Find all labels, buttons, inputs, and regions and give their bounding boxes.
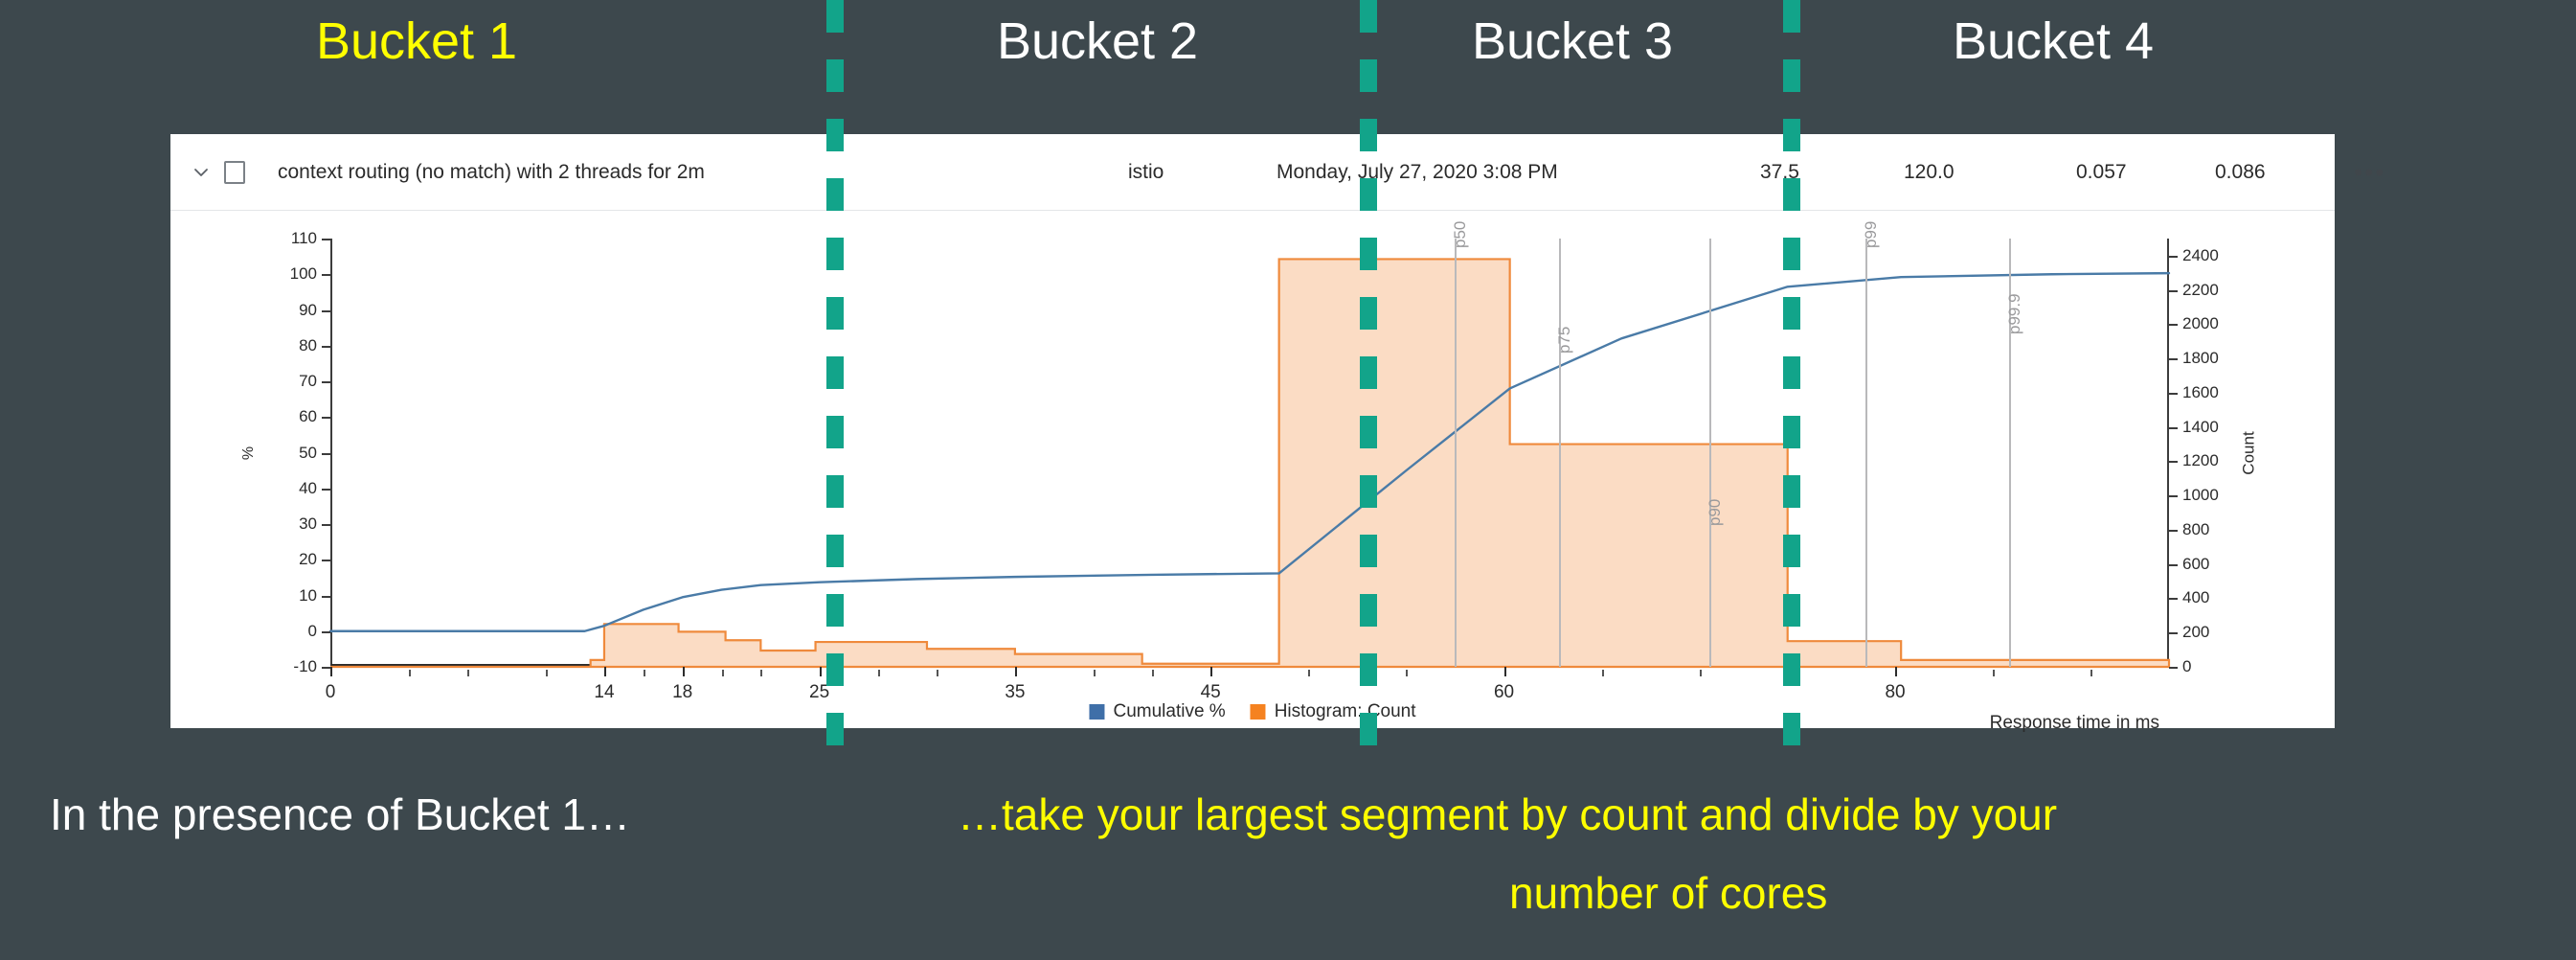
y-axis-left-tick-label: 20 — [299, 550, 317, 569]
x-axis-minor-tick — [1602, 670, 1604, 676]
y-axis-left-tick-label: 60 — [299, 407, 317, 426]
y-axis-right-tick-label: 1000 — [2182, 486, 2219, 505]
x-axis-minor-tick — [1152, 670, 1154, 676]
x-axis-title: Response time in ms — [1990, 713, 2159, 734]
row-checkbox[interactable] — [224, 161, 245, 184]
y-axis-right-tick-label: 1800 — [2182, 349, 2219, 368]
chart-legend: Cumulative % Histogram: Count — [1089, 701, 1415, 722]
legend-label-cumulative: Cumulative % — [1113, 701, 1225, 722]
y-axis-right-tick-label: 2400 — [2182, 246, 2219, 265]
percentile-label-p90: p90 — [1706, 499, 1725, 526]
y-axis-left-tick-label: 10 — [299, 586, 317, 606]
x-axis-tick-label: 60 — [1494, 682, 1514, 703]
x-axis-tick-label: 80 — [1885, 682, 1905, 703]
y-axis-left-tick — [322, 239, 330, 240]
metric-3-cell: 0.057 — [2076, 161, 2127, 184]
y-axis-right-tick — [2169, 256, 2178, 258]
percentile-line-p90 — [1709, 239, 1711, 667]
y-axis-right-tick — [2169, 461, 2178, 463]
x-axis-tick-label: 14 — [594, 682, 614, 703]
y-axis-left-tick-label: 80 — [299, 336, 317, 355]
y-axis-right-tick — [2169, 324, 2178, 326]
y-axis-left-tick — [322, 274, 330, 276]
y-axis-left-tick — [322, 489, 330, 491]
x-axis-tick — [1895, 667, 1897, 676]
y-axis-left-tick — [322, 560, 330, 561]
y-axis-right-tick-label: 1600 — [2182, 383, 2219, 402]
y-axis-right-tick — [2169, 290, 2178, 292]
y-axis-right-tick — [2169, 632, 2178, 634]
x-axis-minor-tick — [1094, 670, 1096, 676]
x-axis-tick — [330, 667, 332, 676]
y-axis-left-tick — [322, 667, 330, 669]
x-axis-minor-tick — [1308, 670, 1310, 676]
x-axis-minor-tick — [546, 670, 548, 676]
y-axis-left-tick — [322, 417, 330, 419]
x-axis-minor-tick — [722, 670, 724, 676]
y-axis-right-tick-label: 400 — [2182, 588, 2209, 607]
y-axis-right-tick — [2169, 495, 2178, 497]
y-axis-left-tick — [322, 453, 330, 455]
y-axis-left-tick-label: 110 — [291, 229, 317, 248]
y-axis-left-title: % — [240, 446, 258, 459]
y-axis-right-tick-label: 800 — [2182, 520, 2209, 539]
percentile-label-p99-9: p99.9 — [2005, 293, 2024, 334]
x-axis-minor-tick — [644, 670, 645, 676]
slide-root: Bucket 1 Bucket 2 Bucket 3 Bucket 4 cont… — [0, 0, 2576, 960]
x-axis-minor-tick — [937, 670, 938, 676]
metric-4-cell: 0.086 — [2215, 161, 2266, 184]
x-axis-tick-label: 35 — [1005, 682, 1025, 703]
legend-label-histogram: Histogram: Count — [1275, 701, 1416, 722]
metric-1-cell: 37.5 — [1760, 161, 1799, 184]
y-axis-right-tick — [2169, 530, 2178, 532]
y-axis-left-tick — [322, 524, 330, 526]
y-axis-right-tick-label: 2200 — [2182, 281, 2219, 300]
tag-cell: istio — [1128, 161, 1164, 184]
histogram-step-area — [330, 259, 2169, 667]
percentile-label-p50: p50 — [1451, 221, 1470, 248]
bucket-label-1: Bucket 1 — [0, 11, 833, 71]
y-axis-left-tick — [322, 596, 330, 598]
y-axis-left-tick-label: 0 — [308, 622, 317, 641]
bucket-label-3: Bucket 3 — [1362, 11, 1783, 71]
caption-line-1: In the presence of Bucket 1… — [50, 788, 630, 841]
y-axis-left-tick — [322, 346, 330, 348]
benchmark-result-card: context routing (no match) with 2 thread… — [170, 134, 2335, 728]
y-axis-left-tick-label: 40 — [299, 479, 317, 498]
percentile-line-p50 — [1455, 239, 1457, 667]
x-axis-tick-label: 25 — [809, 682, 829, 703]
percentile-label-p75: p75 — [1555, 327, 1574, 354]
y-axis-left-tick-label: 90 — [299, 301, 317, 320]
x-axis-minor-tick — [1406, 670, 1408, 676]
y-axis-right-tick-label: 1400 — [2182, 418, 2219, 437]
legend-item-histogram: Histogram: Count — [1251, 701, 1416, 722]
y-axis-right-tick — [2169, 598, 2178, 600]
x-axis-minor-tick — [2090, 670, 2092, 676]
plot-area: % Count Response time in ms -10010203040… — [330, 239, 2169, 667]
x-axis-minor-tick — [467, 670, 469, 676]
legend-item-cumulative: Cumulative % — [1089, 701, 1225, 722]
x-axis-tick — [1504, 667, 1506, 676]
x-axis-tick-label: 18 — [672, 682, 692, 703]
x-axis-tick — [1210, 667, 1212, 676]
caption-line-2: …take your largest segment by count and … — [958, 788, 2057, 841]
y-axis-right-title: Count — [2239, 431, 2258, 474]
chevron-down-icon[interactable] — [188, 159, 215, 186]
cumulative-percent-line — [330, 273, 2169, 631]
y-axis-right-tick-label: 600 — [2182, 555, 2209, 574]
x-axis-tick — [683, 667, 685, 676]
metric-2-cell: 120.0 — [1904, 161, 1955, 184]
y-axis-right-tick-label: 200 — [2182, 623, 2209, 642]
x-axis-minor-tick — [1797, 670, 1799, 676]
x-axis-minor-tick — [1993, 670, 1995, 676]
percentile-line-p99 — [1865, 239, 1867, 667]
y-axis-left-tick-label: 50 — [299, 444, 317, 463]
x-axis-tick — [604, 667, 606, 676]
x-axis-tick — [1015, 667, 1017, 676]
legend-swatch-cumulative — [1089, 704, 1104, 720]
chart-svg — [330, 239, 2169, 667]
y-axis-right-tick — [2169, 358, 2178, 360]
histogram-chart: % Count Response time in ms -10010203040… — [170, 212, 2335, 728]
y-axis-left-tick — [322, 381, 330, 383]
test-name-cell: context routing (no match) with 2 thread… — [278, 161, 705, 184]
y-axis-left-tick — [322, 310, 330, 312]
x-axis-minor-tick — [878, 670, 880, 676]
y-axis-right-tick — [2169, 393, 2178, 395]
x-axis-tick — [820, 667, 822, 676]
x-axis-minor-tick — [1700, 670, 1702, 676]
y-axis-left-tick — [322, 631, 330, 633]
y-axis-right-tick-label: 2000 — [2182, 314, 2219, 333]
y-axis-left-tick-label: 30 — [299, 514, 317, 534]
y-axis-right-tick — [2169, 427, 2178, 429]
date-cell: Monday, July 27, 2020 3:08 PM — [1277, 161, 1558, 184]
x-axis-tick-label: 45 — [1201, 682, 1221, 703]
y-axis-right-tick-label: 1200 — [2182, 451, 2219, 470]
row-overflow-menu-button[interactable]: ••• — [2354, 157, 2385, 187]
x-axis-minor-tick — [760, 670, 762, 676]
x-axis-minor-tick — [409, 670, 411, 676]
y-axis-right-tick-label: 0 — [2182, 657, 2191, 676]
y-axis-left-tick-label: 100 — [290, 264, 317, 284]
percentile-label-p99: p99 — [1862, 221, 1881, 248]
percentile-line-p75 — [1559, 239, 1561, 667]
y-axis-right-tick — [2169, 564, 2178, 566]
y-axis-right-tick — [2169, 667, 2178, 669]
table-row[interactable]: context routing (no match) with 2 thread… — [170, 134, 2335, 211]
caption-line-3: number of cores — [1509, 866, 1827, 920]
x-axis-tick-label: 0 — [326, 682, 336, 703]
bucket-label-4: Bucket 4 — [1785, 11, 2321, 71]
y-axis-left-tick-label: -10 — [293, 657, 317, 676]
legend-swatch-histogram — [1251, 704, 1266, 720]
y-axis-left-tick-label: 70 — [299, 372, 317, 391]
bucket-label-2: Bucket 2 — [835, 11, 1360, 71]
